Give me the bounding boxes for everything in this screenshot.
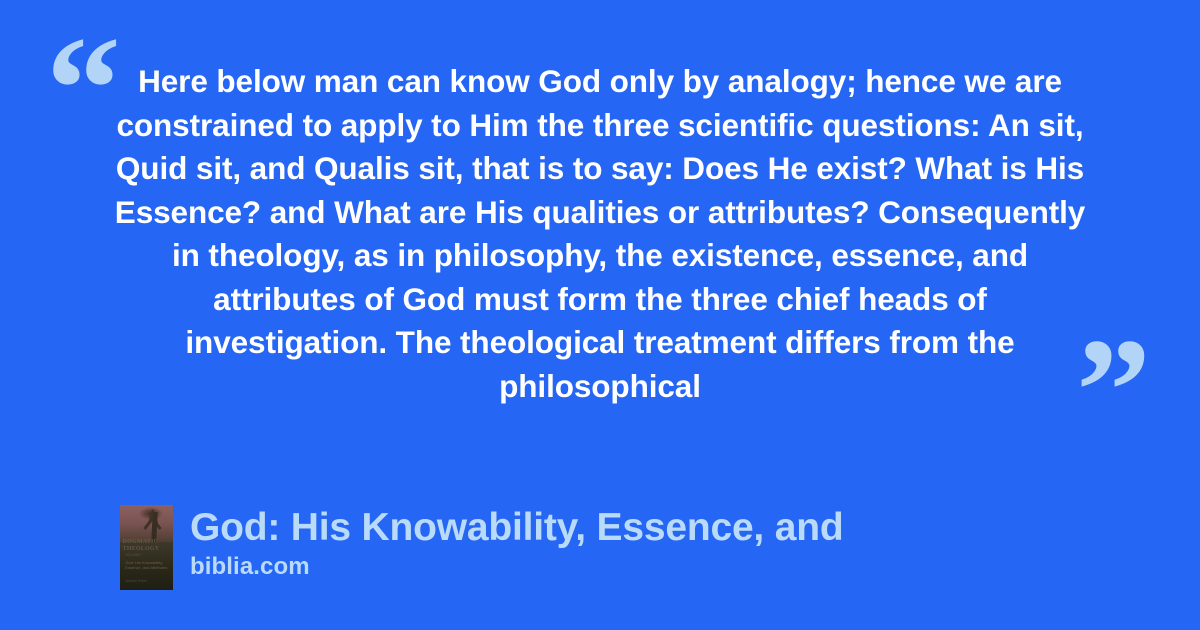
book-cover-thumbnail[interactable]: DOGMATIC THEOLOGY VOLUME I God: His Know… [120, 505, 173, 590]
source-site[interactable]: biblia.com [190, 553, 843, 581]
cover-title-text: DOGMATIC THEOLOGY [123, 539, 172, 552]
quote-text: Here below man can know God only by anal… [112, 60, 1088, 408]
quote-block: Here below man can know God only by anal… [112, 60, 1088, 408]
attribution-text-group: God: His Knowability, Essence, and bibli… [190, 505, 843, 581]
cover-subtitle-text: God: His Knowability, Essence, and Attri… [125, 560, 167, 570]
cover-volume-text: VOLUME I [125, 553, 141, 557]
source-title[interactable]: God: His Knowability, Essence, and [190, 505, 843, 551]
open-quote-icon: “ [46, 14, 121, 164]
attribution-footer: DOGMATIC THEOLOGY VOLUME I God: His Know… [120, 505, 843, 590]
cover-author-text: Joseph Pohle [125, 579, 147, 583]
quote-card: “ ” Here below man can know God only by … [0, 0, 1200, 630]
